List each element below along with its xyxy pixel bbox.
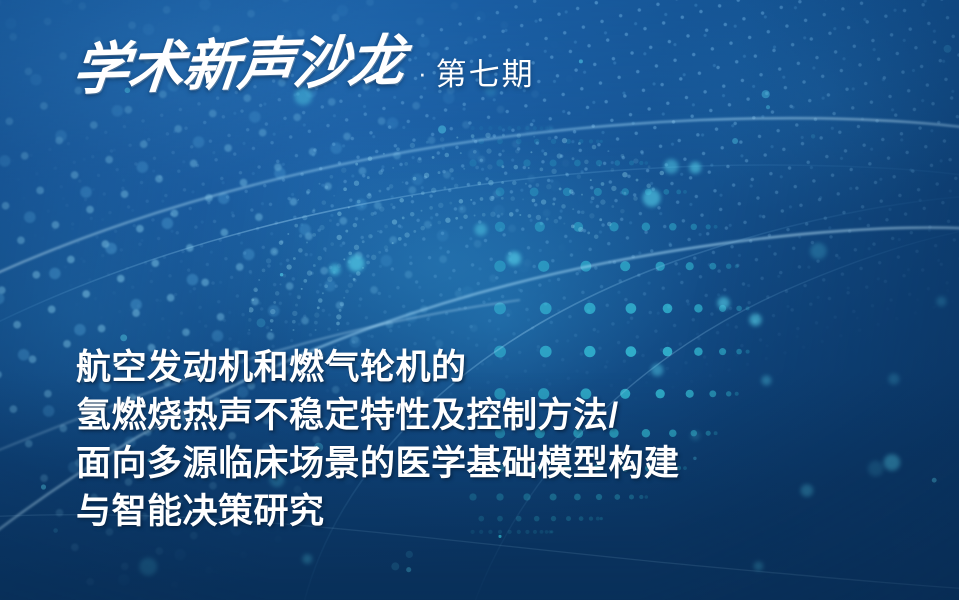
brand-header: 学术新声沙龙 · 第七期 [70,42,535,98]
poster-canvas: 学术新声沙龙 · 第七期 航空发动机和燃气轮机的 氢燃烧热声不稳定特性及控制方法… [0,0,959,600]
brand-issue-label: 第七期 [436,59,535,90]
headline-line-4: 与智能决策研究 [76,488,876,536]
headline-line-1: 航空发动机和燃气轮机的 [76,344,876,392]
headline-block: 航空发动机和燃气轮机的 氢燃烧热声不稳定特性及控制方法/ 面向多源临床场景的医学… [76,344,876,536]
headline-line-3: 面向多源临床场景的医学基础模型构建 [76,440,876,488]
poster-content: 学术新声沙龙 · 第七期 航空发动机和燃气轮机的 氢燃烧热声不稳定特性及控制方法… [0,0,959,600]
headline-line-2: 氢燃烧热声不稳定特性及控制方法/ [76,392,876,440]
brand-logo-calligraphy: 学术新声沙龙 [70,33,410,98]
brand-separator-dot: · [418,60,427,86]
